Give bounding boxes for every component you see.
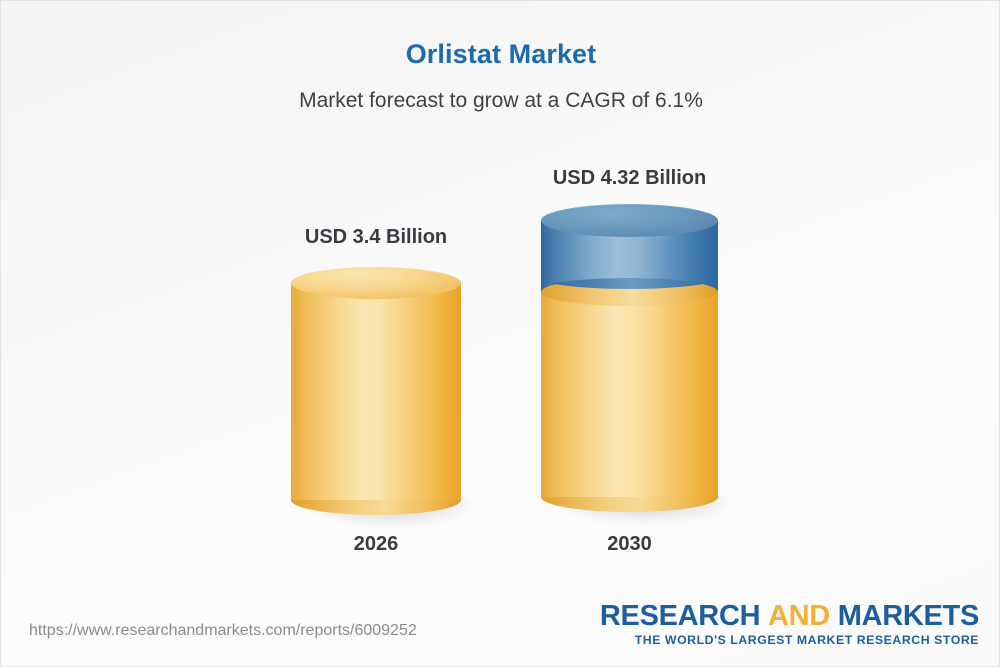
bar-value-label-2030: USD 4.32 Billion	[511, 167, 748, 190]
logo-tagline: THE WORLD'S LARGEST MARKET RESEARCH STOR…	[600, 633, 979, 647]
cylinder-body-2026	[291, 282, 461, 500]
plot-area: USD 3.4 Billion 2026 USD 4.32 Billion	[1, 1, 1000, 601]
cylinder-2030[interactable]	[541, 204, 718, 514]
cylinder-top-cap-2030	[541, 204, 718, 237]
category-label-2026: 2026	[291, 533, 461, 556]
source-url[interactable]: https://www.researchandmarkets.com/repor…	[29, 622, 417, 640]
logo-word-research: RESEARCH	[600, 600, 760, 632]
cylinder-2026[interactable]	[291, 267, 461, 517]
logo-word-markets: MARKETS	[838, 600, 979, 632]
bar-value-label-2026: USD 3.4 Billion	[261, 226, 491, 249]
brand-logo[interactable]: RESEARCH AND MARKETS THE WORLD'S LARGEST…	[600, 601, 979, 647]
bar-group-2026: USD 3.4 Billion 2026	[291, 201, 461, 541]
cylinder-segment-yellow-2030	[541, 288, 718, 497]
logo-wordmark: RESEARCH AND MARKETS	[600, 601, 979, 631]
cylinder-top-cap-2026	[291, 267, 461, 299]
bar-group-2030: USD 4.32 Billion 2030	[541, 141, 718, 541]
chart-canvas: Orlistat Market Market forecast to grow …	[0, 0, 1000, 667]
category-label-2030: 2030	[541, 533, 718, 556]
logo-word-and: AND	[768, 600, 830, 632]
